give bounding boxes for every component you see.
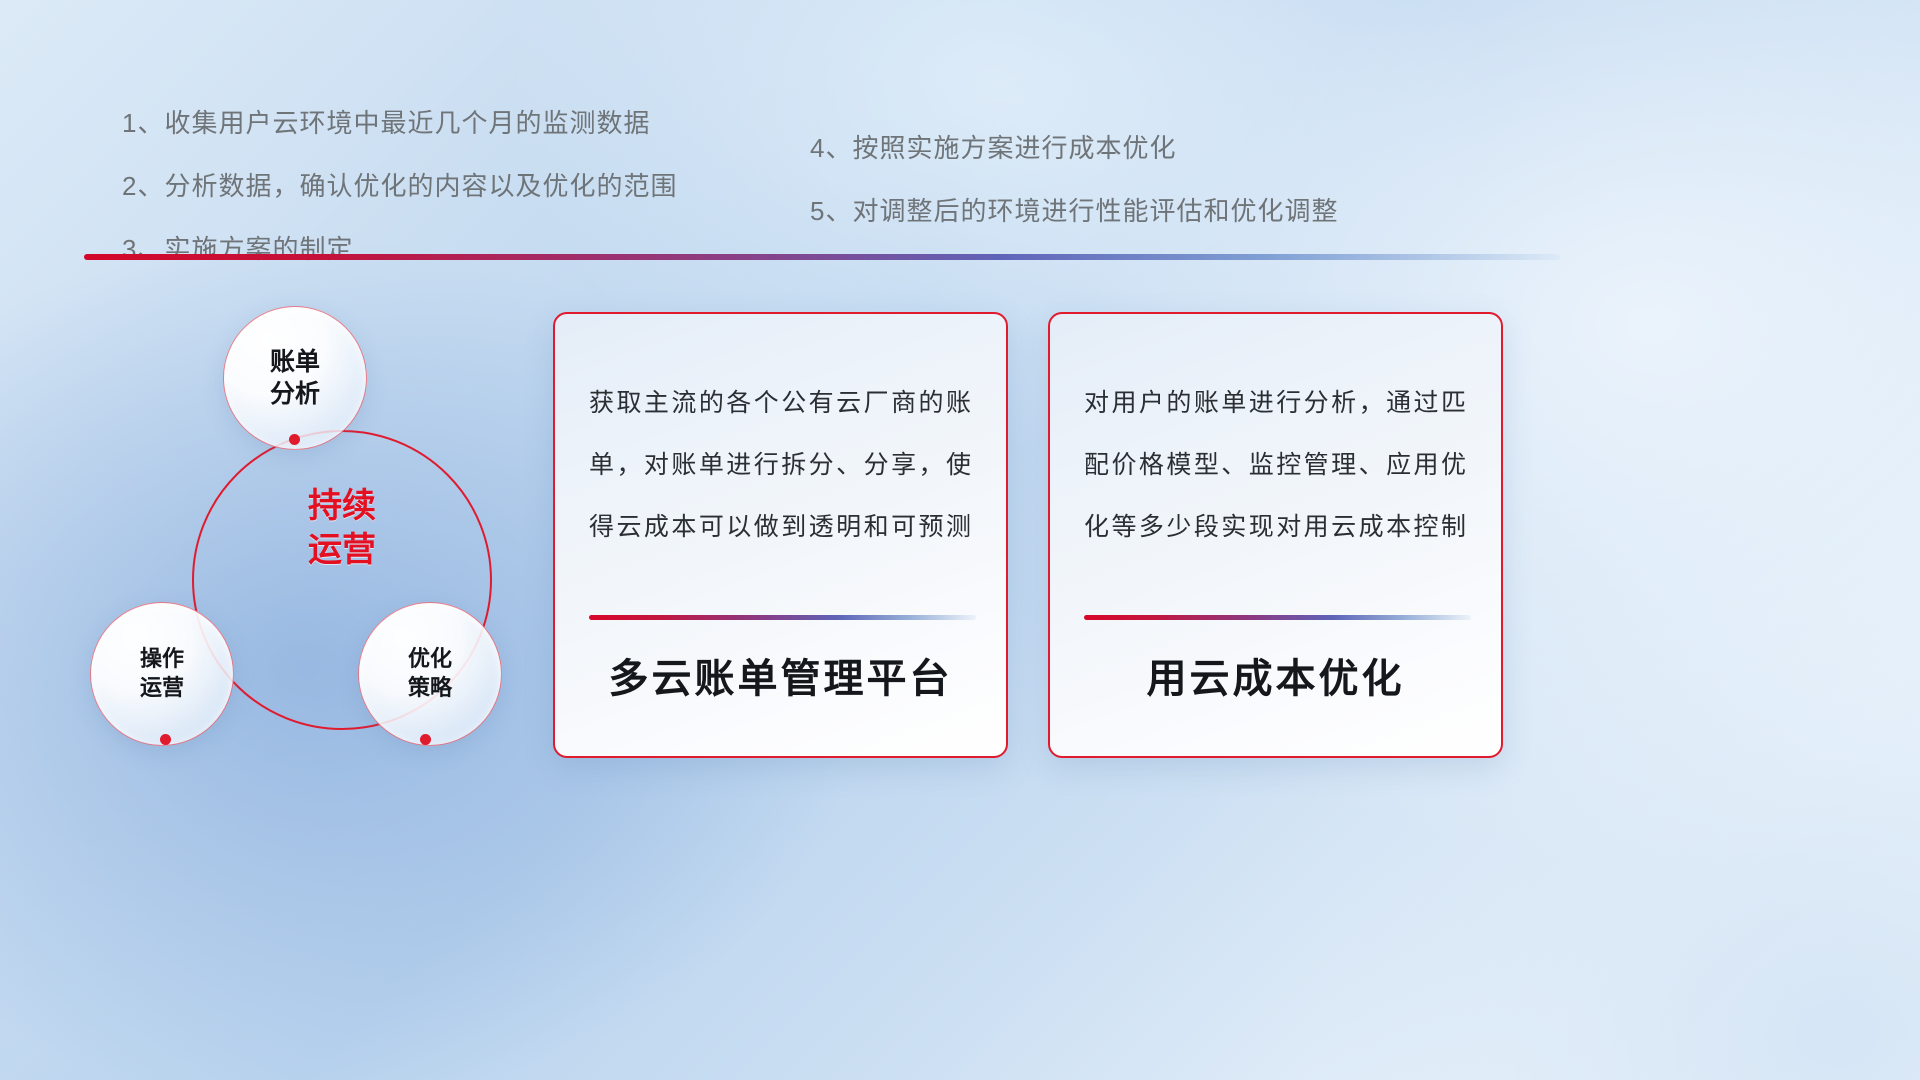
feature-card-cloud-cost-optimization[interactable]: 对用户的账单进行分析，通过匹配价格模型、监控管理、应用优化等多少段实现对用云成本… <box>1048 312 1503 758</box>
card-body-text: 获取主流的各个公有云厂商的账单，对账单进行拆分、分享，使得云成本可以做到透明和可… <box>589 372 972 564</box>
card-body-text: 对用户的账单进行分析，通过匹配价格模型、监控管理、应用优化等多少段实现对用云成本… <box>1084 372 1467 564</box>
venn-center-label: 持续 运营 <box>192 485 492 572</box>
bullet-item-4: 4、按照实施方案进行成本优化 <box>810 128 1338 165</box>
bubble-right-line2: 策略 <box>408 674 452 703</box>
bullet-item-1: 1、收集用户云环境中最近几个月的监测数据 <box>122 103 677 140</box>
venn-bubble-operations[interactable]: 操作 运营 <box>90 602 234 746</box>
venn-center-label-line2: 运营 <box>192 529 492 573</box>
venn-node-dot-top <box>289 434 300 445</box>
bubble-left-line2: 运营 <box>140 674 184 703</box>
bullet-item-2: 2、分析数据，确认优化的内容以及优化的范围 <box>122 166 677 203</box>
slide-canvas: 1、收集用户云环境中最近几个月的监测数据 2、分析数据，确认优化的内容以及优化的… <box>0 0 1920 1080</box>
venn-center-label-line1: 持续 <box>192 485 492 529</box>
feature-card-multi-cloud-billing[interactable]: 获取主流的各个公有云厂商的账单，对账单进行拆分、分享，使得云成本可以做到透明和可… <box>553 312 1008 758</box>
card-title: 多云账单管理平台 <box>555 646 1006 704</box>
bullet-item-5: 5、对调整后的环境进行性能评估和优化调整 <box>810 191 1338 228</box>
bullet-list-left: 1、收集用户云环境中最近几个月的监测数据 2、分析数据，确认优化的内容以及优化的… <box>122 103 677 292</box>
card-divider <box>1084 615 1471 620</box>
card-title: 用云成本优化 <box>1050 646 1501 704</box>
venn-bubble-bill-analysis[interactable]: 账单 分析 <box>223 306 367 450</box>
venn-bubble-optimization-strategy[interactable]: 优化 策略 <box>358 602 502 746</box>
venn-diagram: 持续 运营 账单 分析 操作 运营 优化 策略 <box>70 290 540 760</box>
header-divider-rule <box>84 254 1560 260</box>
bubble-right-line1: 优化 <box>408 645 452 674</box>
bubble-top-line2: 分析 <box>270 378 320 411</box>
bubble-left-line1: 操作 <box>140 645 184 674</box>
venn-node-dot-left <box>160 734 171 745</box>
bullet-list-right: 4、按照实施方案进行成本优化 5、对调整后的环境进行性能评估和优化调整 <box>810 128 1338 254</box>
card-divider <box>589 615 976 620</box>
bubble-top-line1: 账单 <box>270 346 320 379</box>
bullet-item-3: 3、实施方案的制定 <box>122 229 677 266</box>
venn-node-dot-right <box>420 734 431 745</box>
